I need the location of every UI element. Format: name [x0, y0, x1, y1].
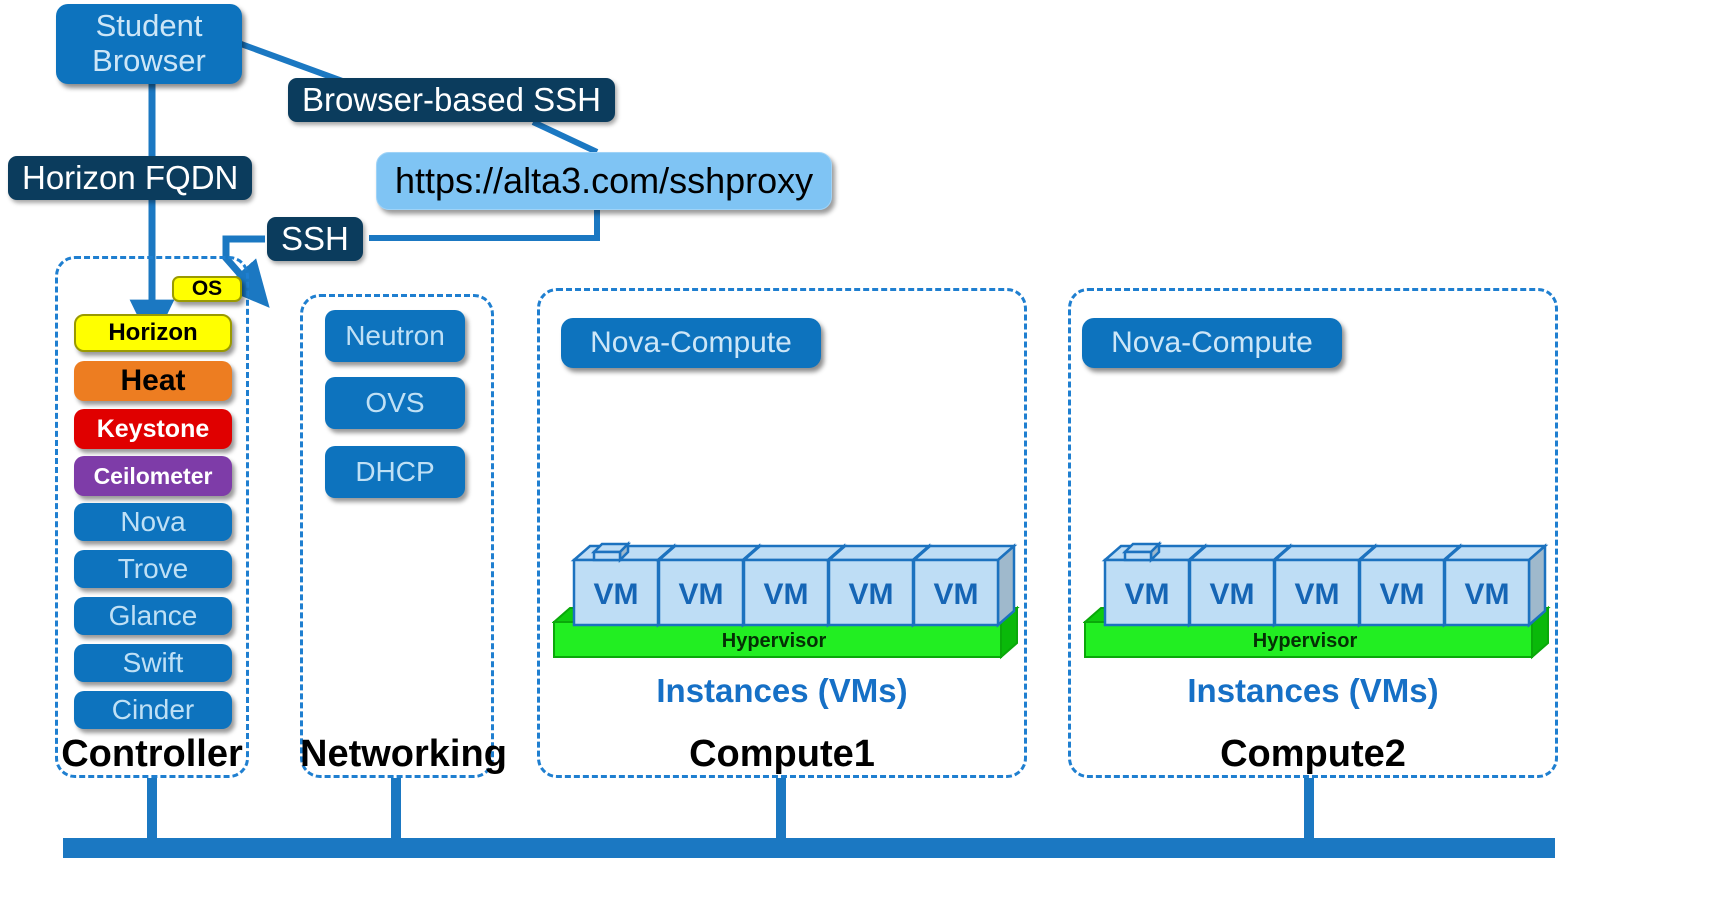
panel-networking — [300, 294, 494, 778]
student-browser-node[interactable]: Student Browser — [56, 4, 242, 84]
vm-label: VM — [849, 578, 894, 611]
vm-label: VM — [1465, 578, 1510, 611]
network-bus — [63, 838, 1555, 858]
sshproxy-url-box[interactable]: https://alta3.com/sshproxy — [376, 152, 832, 210]
student-browser-line2: Browser — [92, 44, 206, 79]
chip-controller-trove[interactable]: Trove — [74, 550, 232, 588]
ssh-label: SSH — [267, 217, 363, 261]
vm-label: VM — [934, 578, 979, 611]
student-browser-line1: Student — [96, 9, 203, 44]
chip-controller-keystone[interactable]: Keystone — [74, 409, 232, 449]
diagram-canvas: Student Browser Browser-based SSH Horizo… — [0, 0, 1728, 907]
vm-label: VM — [1125, 578, 1170, 611]
instances-label-compute2: Instances (VMs) — [1068, 672, 1558, 710]
chip-compute2-nova-compute[interactable]: Nova-Compute — [1082, 318, 1342, 368]
vm-label: VM — [679, 578, 724, 611]
instances-label-compute1: Instances (VMs) — [537, 672, 1027, 710]
vm-stack-compute1: VM VM VM VM VM Hypervisor — [552, 533, 1022, 661]
vm-label: VM — [1295, 578, 1340, 611]
chip-controller-glance[interactable]: Glance — [74, 597, 232, 635]
panel-title-networking: Networking — [300, 733, 494, 776]
hypervisor-label-compute2: Hypervisor — [1253, 630, 1358, 652]
panel-title-compute1: Compute1 — [537, 733, 1027, 776]
wire-browser-to-sshlabel — [241, 44, 345, 82]
chip-controller-ceilometer[interactable]: Ceilometer — [74, 456, 232, 496]
vm-label: VM — [764, 578, 809, 611]
chip-controller-horizon[interactable]: Horizon — [74, 314, 232, 352]
browser-based-ssh-label: Browser-based SSH — [288, 78, 615, 122]
vm-label: VM — [594, 578, 639, 611]
chip-networking-neutron[interactable]: Neutron — [325, 310, 465, 362]
vm-stack-compute2: VM VM VM VM VM Hypervisor — [1083, 533, 1553, 661]
panel-title-compute2: Compute2 — [1068, 733, 1558, 776]
panel-title-controller: Controller — [55, 733, 249, 776]
chip-controller-swift[interactable]: Swift — [74, 644, 232, 682]
chip-compute1-nova-compute[interactable]: Nova-Compute — [561, 318, 821, 368]
hypervisor-label-compute1: Hypervisor — [722, 630, 827, 652]
chip-controller-cinder[interactable]: Cinder — [74, 691, 232, 729]
chip-networking-ovs[interactable]: OVS — [325, 377, 465, 429]
vm-label: VM — [1210, 578, 1255, 611]
horizon-fqdn-label: Horizon FQDN — [8, 156, 252, 200]
chip-controller-os[interactable]: OS — [172, 276, 242, 302]
chip-controller-nova[interactable]: Nova — [74, 503, 232, 541]
chip-controller-heat[interactable]: Heat — [74, 361, 232, 401]
chip-networking-dhcp[interactable]: DHCP — [325, 446, 465, 498]
wire-sshlabel-to-url — [533, 122, 597, 152]
vm-label: VM — [1380, 578, 1425, 611]
